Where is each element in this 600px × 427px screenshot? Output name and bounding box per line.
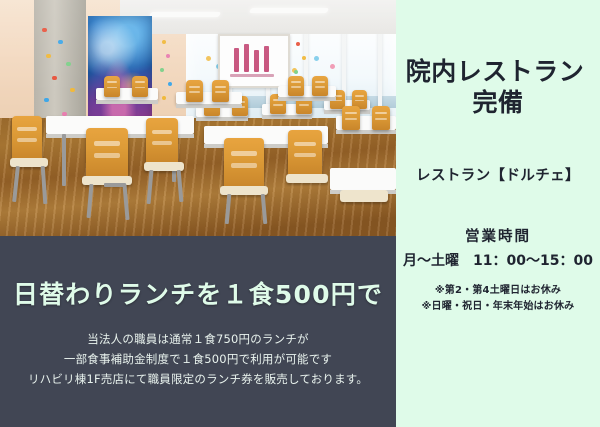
dining-chair	[342, 106, 360, 130]
dining-chair	[146, 118, 178, 164]
hanging-decoration	[162, 40, 166, 44]
ceiling-light	[149, 12, 221, 17]
climbing-hold	[52, 76, 57, 80]
hanging-decoration	[302, 56, 306, 60]
restaurant-name: レストラン【ドルチェ】	[396, 164, 600, 185]
business-hours-value: 月〜土曜 11：00〜15：00	[396, 250, 600, 270]
climbing-hold	[46, 54, 51, 58]
hanging-decoration	[162, 96, 166, 100]
lunch-description-line: リハビリ棟1F売店にて職員限定のランチ券を販売しております。	[28, 370, 368, 390]
chair-seat	[340, 190, 388, 202]
chair-seat	[286, 174, 328, 183]
lunch-description-line: 一部食事補助金制度で１食500円で利用が可能です	[28, 350, 368, 370]
dining-chair	[186, 80, 203, 102]
restaurant-info-panel: 院内レストラン 完備 レストラン【ドルチェ】 営業時間 月〜土曜 11：00〜1…	[396, 0, 600, 427]
dining-chair	[212, 80, 229, 102]
window-decal	[330, 64, 335, 69]
climbing-hold	[70, 88, 75, 92]
photo-ceiling	[120, 0, 396, 34]
climbing-hold	[42, 28, 47, 32]
dining-chair	[312, 76, 328, 96]
lunch-description: 当法人の職員は通常１食750円のランチが 一部食事補助金制度で１食500円で利用…	[28, 330, 368, 389]
dining-chair	[288, 76, 304, 96]
dining-table	[330, 168, 396, 190]
panel-title-line2: 完備	[396, 87, 600, 118]
dining-chair	[224, 138, 264, 188]
framed-picture	[218, 34, 290, 88]
window-decal	[206, 56, 211, 61]
ceiling-light	[249, 8, 329, 13]
lunch-description-line: 当法人の職員は通常１食750円のランチが	[28, 330, 368, 350]
dining-chair	[132, 76, 148, 97]
climbing-hold	[66, 62, 71, 66]
promotional-poster: 日替わりランチを１食500円で 当法人の職員は通常１食750円のランチが 一部食…	[0, 0, 600, 427]
dining-chair	[104, 76, 120, 97]
window-decal	[314, 56, 319, 61]
dining-chair	[86, 128, 128, 178]
dining-chair	[12, 116, 42, 160]
cafeteria-photo	[0, 0, 396, 236]
hanging-decoration	[160, 68, 164, 72]
table-leg	[62, 134, 66, 186]
panel-title-line1: 院内レストラン	[396, 56, 600, 87]
hanging-decoration	[168, 82, 172, 86]
dining-chair	[288, 130, 322, 176]
chair-leg	[104, 183, 126, 187]
hanging-decoration	[294, 70, 298, 74]
holiday-note-line: ※日曜・祝日・年末年始はお休み	[396, 299, 600, 315]
business-hours-label: 営業時間	[396, 225, 600, 246]
holiday-notes: ※第2・第4土曜日はお休み ※日曜・祝日・年末年始はお休み	[396, 283, 600, 315]
lunch-promo-block: 日替わりランチを１食500円で 当法人の職員は通常１食750円のランチが 一部食…	[0, 236, 396, 427]
hanging-decoration	[296, 42, 300, 46]
climbing-hold	[44, 98, 49, 102]
holiday-note-line: ※第2・第4土曜日はお休み	[396, 283, 600, 299]
lunch-headline: 日替わりランチを１食500円で	[13, 275, 383, 311]
panel-title: 院内レストラン 完備	[396, 56, 600, 118]
dining-chair	[372, 106, 390, 130]
hanging-decoration	[166, 54, 170, 58]
climbing-hold	[58, 40, 63, 44]
